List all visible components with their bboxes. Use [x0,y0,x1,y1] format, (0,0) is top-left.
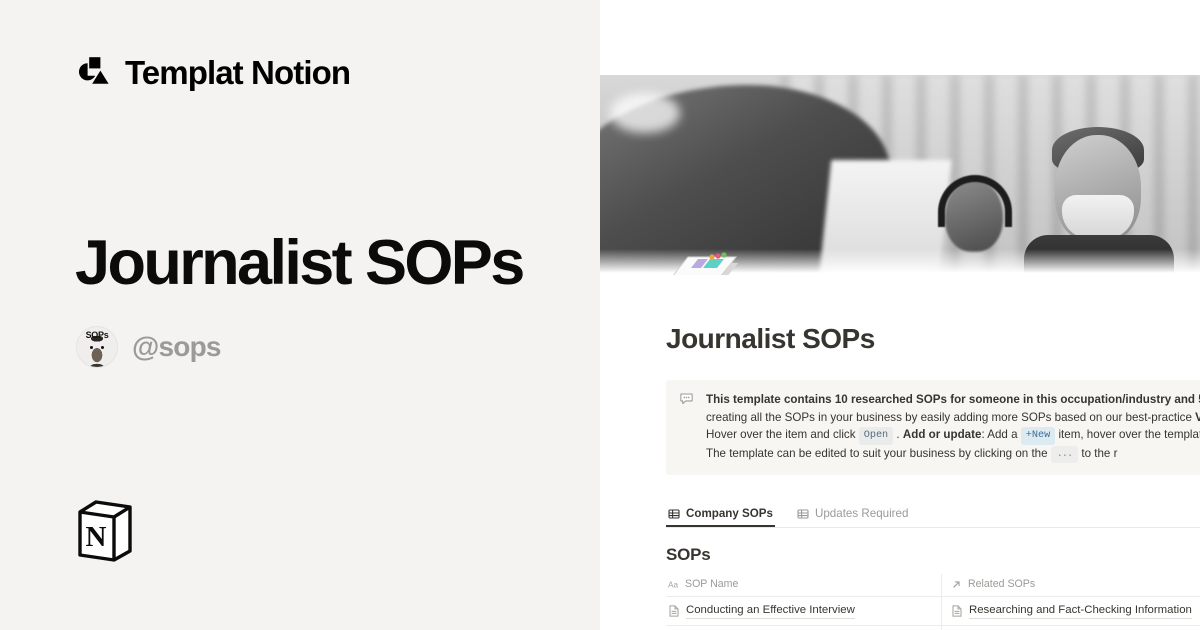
callout-line1: This template contains 10 researched SOP… [706,393,1200,406]
tab-label: Company SOPs [686,507,773,520]
cell-label: Conducting an Effective Interview [686,603,855,619]
new-chip[interactable]: +New [1021,427,1055,445]
page-document-icon [951,605,963,618]
relation-arrow-icon [951,579,962,590]
text-aa-icon: Aa [668,579,679,590]
brand-title: Templat Notion [125,56,350,89]
speech-bubble-icon [679,391,697,463]
tab-label: Updates Required [815,507,908,520]
brand: Templat Notion [75,55,350,89]
avatar: SOPs [76,326,118,368]
svg-text:N: N [86,521,107,553]
avatar-face [83,336,111,368]
database-title: SOPs [666,545,1200,565]
svg-text:Aa: Aa [668,580,679,589]
cell-related-sop[interactable]: Conducting an Effective Interview [942,626,1200,630]
notion-document-panel: Journalist SOPs This template contains 1… [600,0,1200,630]
table-grid-icon [668,508,680,520]
tab-company-sops[interactable]: Company SOPs [666,507,775,527]
column-label: SOP Name [685,578,738,590]
page-document-icon [668,605,680,618]
callout-line2: creating all the SOPs in your business b… [706,411,1192,424]
more-options-chip[interactable]: ... [1051,446,1078,464]
callout-line3d: item, hover over the [1055,428,1161,441]
page-title: Journalist SOPs [75,230,523,296]
database-tabs: Company SOPs Updates Required [666,507,1200,528]
callout-line4b: to the r [1078,447,1117,460]
column-header-related-sops[interactable]: Related SOPs [942,574,1200,596]
cell-sop-name[interactable]: Conducting an Effective Interview [666,597,942,625]
table-header-row: Aa SOP Name Related SOPs [666,574,1200,597]
column-header-sop-name[interactable]: Aa SOP Name [666,574,942,596]
left-hero-panel: Templat Notion Journalist SOPs SOPs @sop… [0,0,600,630]
author-row: SOPs @sops [76,326,221,368]
callout-line3c: : Add a [981,428,1020,441]
cover-image [600,75,1200,275]
notion-cube-icon: N [76,499,134,563]
table-grid-icon [797,508,809,520]
callout-text: This template contains 10 researched SOP… [706,391,1200,463]
callout-viewing-label: Viewing [1195,411,1200,424]
shapes-logo-icon [75,55,111,89]
sops-table: Aa SOP Name Related SOPs [666,574,1200,630]
notebook-emoji [668,243,744,275]
avatar-eye-right [101,346,104,349]
document-title: Journalist SOPs [666,323,1200,355]
table-row[interactable]: Researching and Fact-Checking Informatio… [666,626,1200,630]
column-label: Related SOPs [968,578,1035,590]
table-row[interactable]: Conducting an Effective Interview Resear… [666,597,1200,626]
callout-line3b: . [893,428,903,441]
avatar-eye-left [90,346,93,349]
cell-label: Researching and Fact-Checking Informatio… [969,603,1192,619]
open-chip[interactable]: Open [859,427,893,445]
cell-related-sop[interactable]: Researching and Fact-Checking Informatio… [942,597,1200,625]
cell-sop-name[interactable]: Researching and Fact-Checking Informatio… [666,626,942,630]
avatar-label: SOPs [77,330,117,340]
author-handle: @sops [132,331,221,363]
callout-block: This template contains 10 researched SOP… [666,380,1200,475]
tab-updates-required[interactable]: Updates Required [795,507,910,527]
callout-addupdate-label: Add or update [903,428,982,441]
